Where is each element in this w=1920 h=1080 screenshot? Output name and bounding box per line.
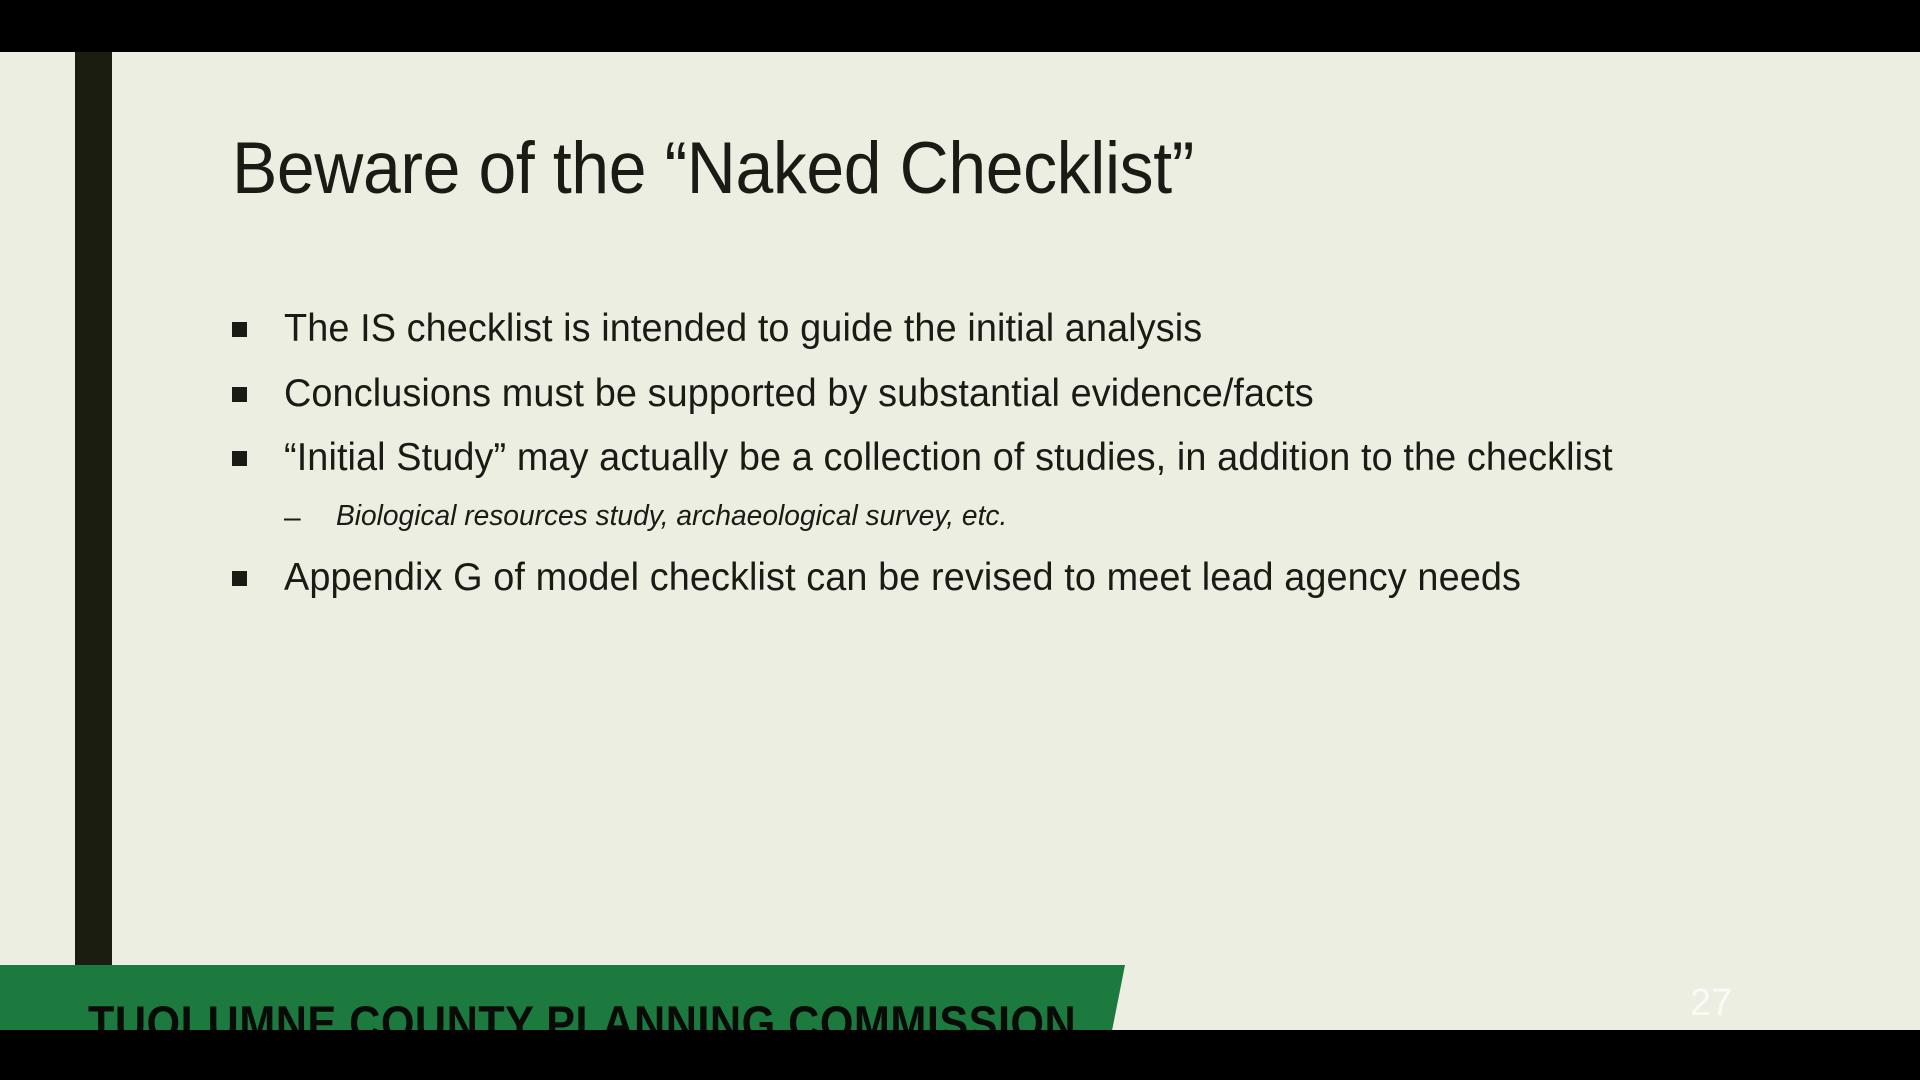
bullet-text-2: Conclusions must be supported by substan…	[284, 369, 1689, 420]
bullet-item-2: Conclusions must be supported by substan…	[232, 369, 1732, 420]
bullet-list: The IS checklist is intended to guide th…	[232, 304, 1732, 618]
bullet-item-4: Appendix G of model checklist can be rev…	[232, 553, 1732, 604]
square-bullet-icon	[232, 433, 284, 466]
letterbox-top	[0, 0, 1920, 52]
bullet-text-3: “Initial Study” may actually be a collec…	[284, 433, 1689, 484]
bullet-item-3: “Initial Study” may actually be a collec…	[232, 433, 1732, 484]
bullet-text-1: The IS checklist is intended to guide th…	[284, 304, 1689, 355]
slide-title: Beware of the “Naked Checklist”	[232, 130, 1627, 207]
left-accent-bar	[75, 52, 112, 965]
footer-banner: TUOLUMNE COUNTY PLANNING COMMISSION Sept…	[0, 965, 1125, 1030]
footer-organization: TUOLUMNE COUNTY PLANNING COMMISSION	[88, 995, 1076, 1030]
slide-stage: Beware of the “Naked Checklist” The IS c…	[0, 0, 1920, 1080]
square-bullet-icon	[232, 553, 284, 586]
letterbox-bottom	[0, 1030, 1920, 1080]
page-number: 27	[1690, 982, 1732, 1025]
sub-bullet-text-1: Biological resources study, archaeologic…	[336, 498, 1690, 536]
dash-bullet-icon: –	[284, 498, 336, 537]
presentation-slide: Beware of the “Naked Checklist” The IS c…	[0, 52, 1920, 1030]
square-bullet-icon	[232, 304, 284, 337]
square-bullet-icon	[232, 369, 284, 402]
sub-bullet-item-1: – Biological resources study, archaeolog…	[232, 498, 1732, 537]
bullet-text-4: Appendix G of model checklist can be rev…	[284, 553, 1689, 604]
bullet-item-1: The IS checklist is intended to guide th…	[232, 304, 1732, 355]
